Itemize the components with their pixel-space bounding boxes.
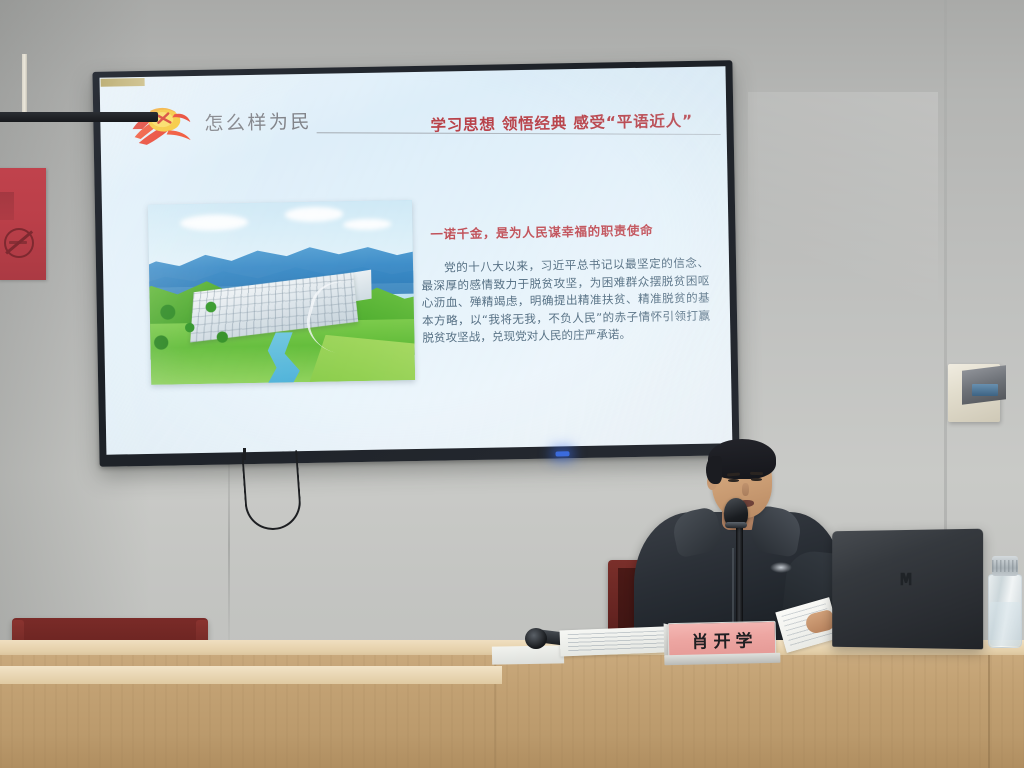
tv-screen[interactable]: 怎么样为民 学习思想 领悟经典 感受“平语近人” <box>100 66 733 454</box>
no-smoking-sign <box>0 168 46 280</box>
nameplate-face: 肖开学 <box>668 621 777 657</box>
outlet-port-icon <box>972 384 998 396</box>
bottle-cap-ribs <box>992 560 1018 572</box>
jacket-brand-logo <box>770 562 792 573</box>
slide-photo-village <box>148 200 415 385</box>
desk-panel-seam <box>988 655 990 768</box>
microphone-ring <box>725 522 747 528</box>
slide-header: 怎么样为民 学习思想 领悟经典 感受“平语近人” <box>100 92 727 159</box>
slide-subtitle: 学习思想 领悟经典 感受“平语近人” <box>430 109 693 136</box>
slide-body-text: 党的十八大以来，习近平总书记以最坚定的信念、最深厚的感情致力于脱贫攻坚，为困难群… <box>421 255 711 348</box>
party-emblem-flame-logo <box>128 98 195 151</box>
presentation-slide: 怎么样为民 学习思想 领悟经典 感受“平语近人” <box>100 66 733 454</box>
nameplate-text: 肖开学 <box>686 626 758 652</box>
wall-power-outlet[interactable] <box>948 364 1000 422</box>
wall-mounted-television[interactable]: 怎么样为民 学习思想 领悟经典 感受“平语近人” <box>92 60 739 467</box>
water-bottle[interactable] <box>988 556 1022 648</box>
handheld-microphone-grille-icon <box>525 628 547 649</box>
slide-heading: 一诺千金，是为人民谋幸福的职责使命 <box>430 220 653 243</box>
laptop-base <box>0 112 158 122</box>
bottle-water-level <box>990 602 1020 646</box>
slide-title: 怎么样为民 <box>204 107 312 136</box>
laptop-lid <box>832 529 983 650</box>
speaker-eyebrow-right <box>750 472 763 475</box>
name-plate: 肖开学 <box>664 619 781 665</box>
tv-corner-tape <box>101 78 145 87</box>
sign-text-block <box>0 192 14 220</box>
laptop-computer[interactable] <box>830 530 982 648</box>
speaker-hair-side <box>706 456 722 484</box>
tv-hanging-cable <box>241 450 302 532</box>
speaker-nose <box>742 483 749 496</box>
paper-stack-left[interactable] <box>492 645 564 664</box>
conference-room-scene: 怎么样为民 学习思想 领悟经典 感受“平语近人” <box>0 0 1024 768</box>
front-table-surface <box>0 666 502 684</box>
photo-trees <box>149 290 240 364</box>
tv-power-led-icon <box>555 451 569 456</box>
